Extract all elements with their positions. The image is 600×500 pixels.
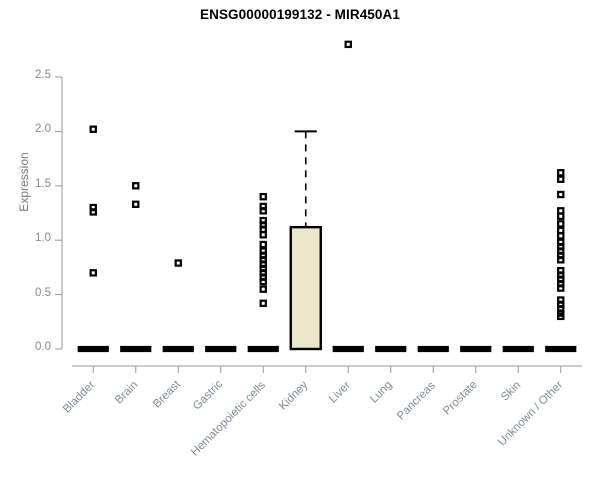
box-skin [503, 347, 533, 352]
box-rect [78, 347, 108, 352]
box-liver [333, 347, 363, 352]
outlier-point [261, 194, 266, 199]
box-unknown-other [546, 347, 576, 352]
outlier-point [558, 233, 563, 238]
outlier-point [261, 279, 266, 284]
plot-area [0, 0, 600, 500]
box-rect [503, 347, 533, 352]
box-bladder [78, 347, 108, 352]
box-pancreas [418, 347, 448, 352]
box-hematopoietic-cells [248, 347, 278, 352]
outlier-point [558, 257, 563, 262]
outlier-point [176, 260, 181, 265]
boxplot-chart: ENSG00000199132 - MIR450A1 Expression 0.… [0, 0, 600, 500]
outlier-point [558, 285, 563, 290]
outlier-point [558, 192, 563, 197]
box-rect [546, 347, 576, 352]
outlier-point [133, 202, 138, 207]
box-prostate [461, 347, 491, 352]
box-rect [206, 347, 236, 352]
box-rect [418, 347, 448, 352]
box-rect [461, 347, 491, 352]
outlier-point [261, 242, 266, 247]
outlier-points [91, 42, 564, 319]
box-gastric [206, 347, 236, 352]
box-rect [333, 347, 363, 352]
box-series [78, 131, 576, 351]
box-lung [376, 347, 406, 352]
box-rect [121, 347, 151, 352]
outlier-point [261, 287, 266, 292]
outlier-point [91, 127, 96, 132]
outlier-point [261, 301, 266, 306]
outlier-point [261, 208, 266, 213]
outlier-point [133, 183, 138, 188]
box-rect [291, 227, 321, 349]
outlier-point [346, 42, 351, 47]
box-kidney [291, 131, 321, 349]
outlier-point [558, 214, 563, 219]
outlier-point [558, 170, 563, 175]
outlier-point [91, 270, 96, 275]
outlier-point [91, 209, 96, 214]
box-rect [163, 347, 193, 352]
outlier-point [261, 232, 266, 237]
outlier-point [558, 177, 563, 182]
box-breast [163, 347, 193, 352]
box-rect [376, 347, 406, 352]
outlier-point [558, 221, 563, 226]
box-rect [248, 347, 278, 352]
box-brain [121, 347, 151, 352]
